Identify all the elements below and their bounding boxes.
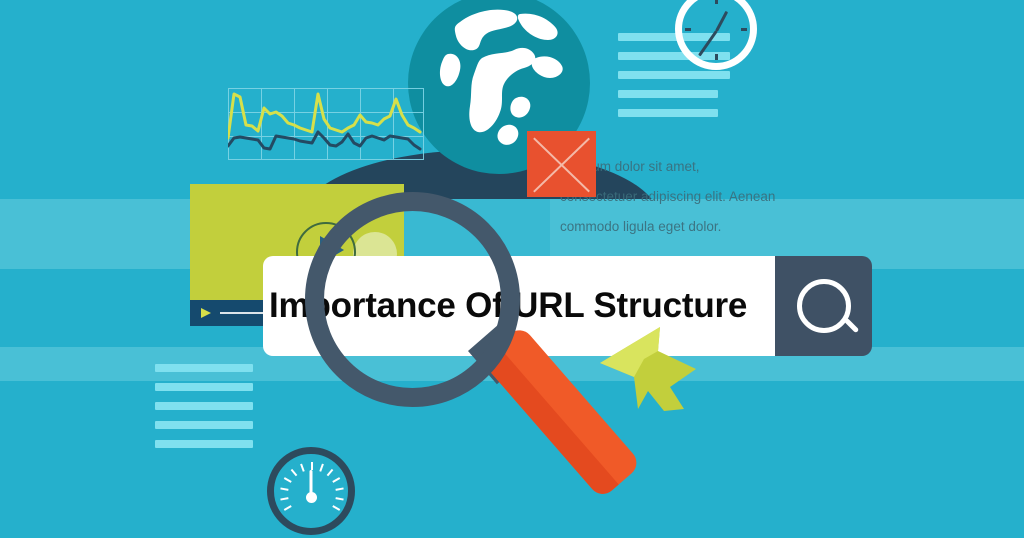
gauge-tick: [284, 477, 292, 483]
body-text: m ipsum dolor sit amet, consectetuer adi…: [560, 152, 840, 242]
clock-tick: [741, 28, 747, 31]
gauge-tick: [284, 505, 292, 511]
gauge-tick: [280, 497, 288, 500]
text-line: [618, 109, 718, 117]
search-icon: [797, 279, 851, 333]
chart-svg: [228, 88, 424, 160]
text-line: [155, 402, 253, 410]
magnifying-glass-icon: [305, 192, 520, 407]
clock-hour-hand: [715, 11, 728, 32]
gauge-tick: [327, 469, 334, 476]
play-button-icon[interactable]: [201, 308, 211, 318]
text-line: [155, 383, 253, 391]
text-line: [618, 90, 718, 98]
gauge-tick: [335, 497, 343, 500]
text-line: [155, 440, 253, 448]
mouse-cursor-icon: [598, 325, 698, 420]
body-text-line-1: m ipsum dolor sit amet,: [560, 152, 840, 182]
gauge-tick: [319, 464, 324, 472]
text-line: [155, 421, 253, 429]
clock-tick: [715, 54, 718, 60]
decorative-text-lines-left: [155, 364, 253, 448]
gauge-hub: [306, 492, 317, 503]
chart-series-a: [228, 94, 420, 138]
envelope-icon: [527, 131, 596, 197]
text-line: [155, 364, 253, 372]
clock-tick: [685, 28, 691, 31]
body-text-line-3: commodo ligula eget dolor.: [560, 212, 840, 242]
clock-minute-hand: [698, 30, 718, 56]
line-chart-icon: [228, 88, 424, 160]
chart-series-b: [228, 132, 420, 149]
clock-tick: [715, 0, 718, 4]
gauge-tick: [332, 477, 340, 483]
gauge-tick: [332, 505, 340, 511]
banner-image: m ipsum dolor sit amet, consectetuer adi…: [0, 0, 1024, 538]
gauge-tick: [311, 462, 313, 470]
cursor-svg: [598, 325, 698, 420]
speedometer-icon: [267, 447, 355, 535]
text-line: [618, 71, 730, 79]
gauge-tick: [291, 469, 298, 476]
search-button[interactable]: [775, 256, 872, 356]
gauge-tick: [300, 464, 305, 472]
gauge-tick: [335, 487, 343, 490]
gauge-tick: [280, 487, 288, 490]
body-text-line-2: consectetuer adipiscing elit. Aenean: [560, 182, 840, 212]
